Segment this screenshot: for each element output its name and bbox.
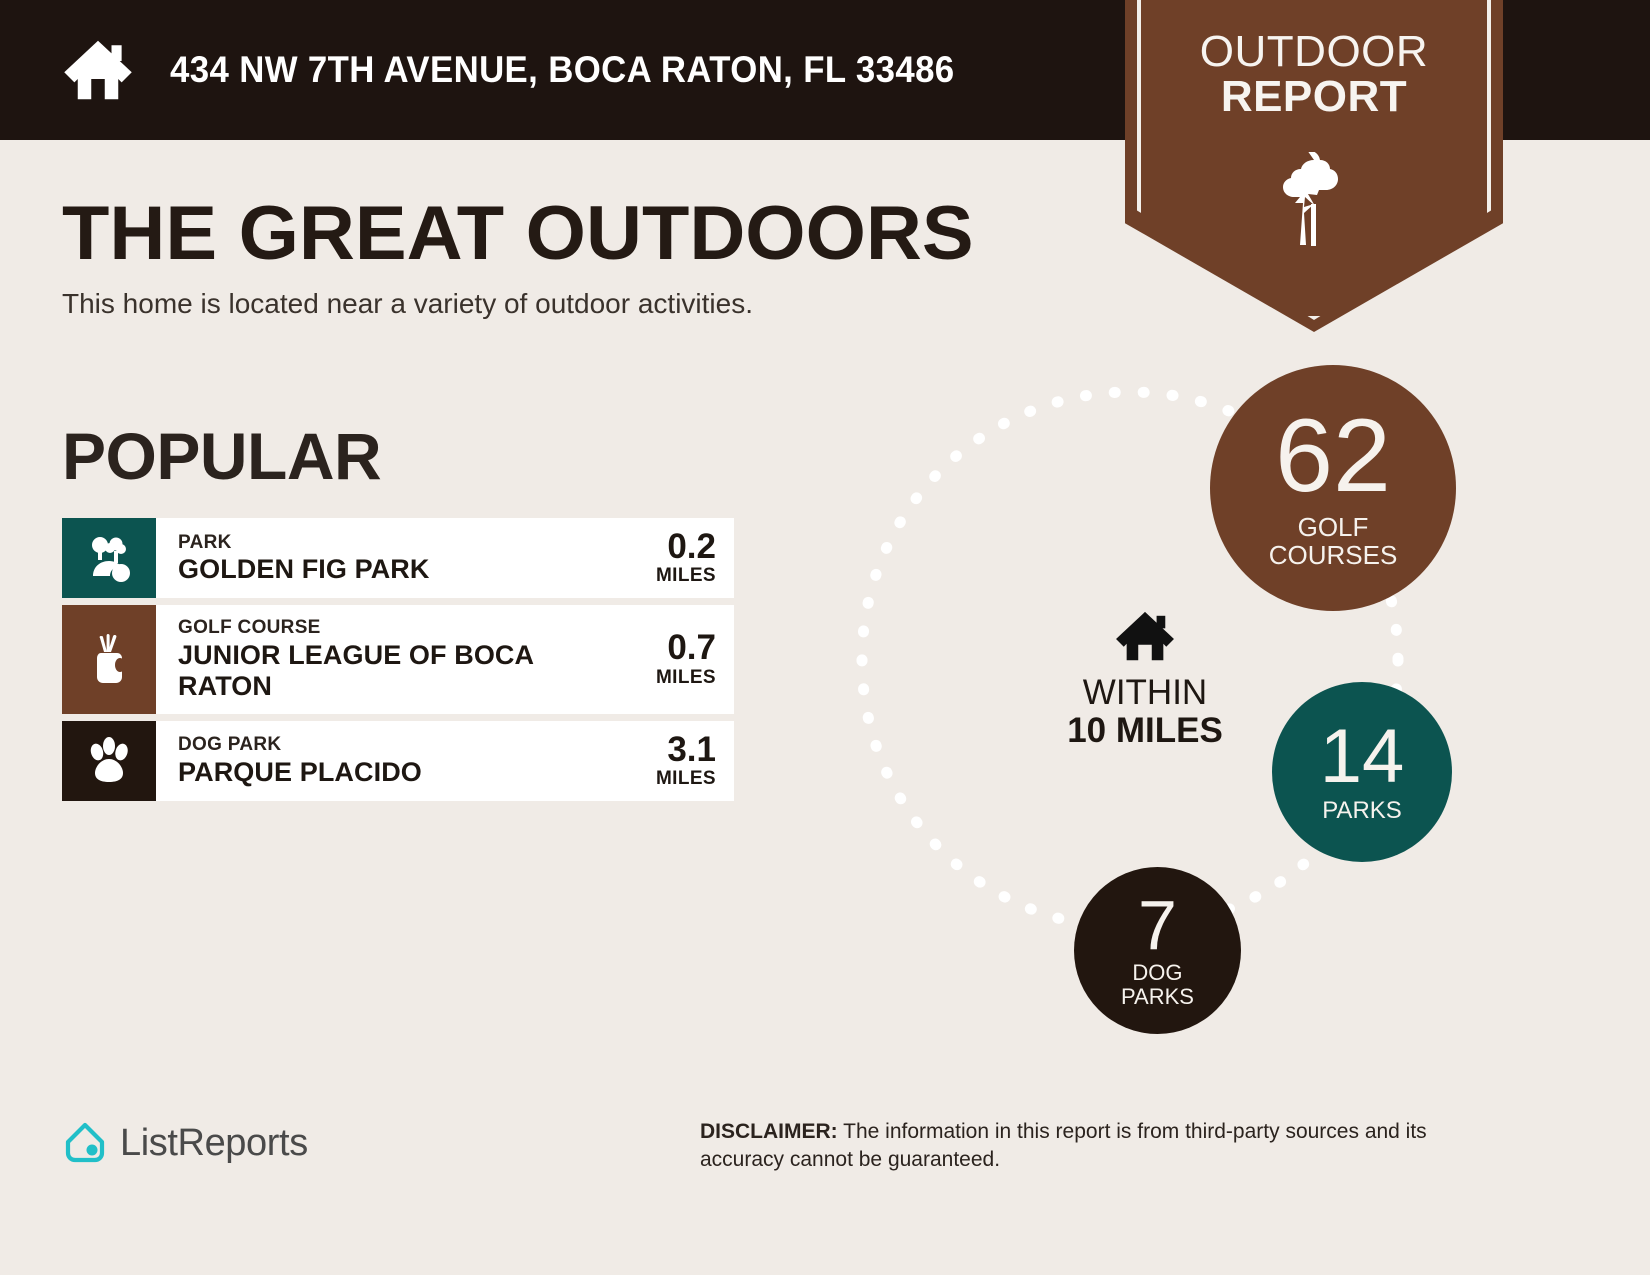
park-trees-icon <box>83 532 135 584</box>
list-item-name: PARQUE PLACIDO <box>178 757 616 788</box>
list-item[interactable]: DOG PARK PARQUE PLACIDO 3.1 MILES <box>62 721 734 801</box>
list-item-body: GOLF COURSE JUNIOR LEAGUE OF BOCA RATON <box>156 605 616 713</box>
center-line2: 10 MILES <box>1045 712 1245 750</box>
list-item-distance: 0.2 MILES <box>616 518 734 598</box>
page-subtitle: This home is located near a variety of o… <box>62 288 753 320</box>
list-item-distance-unit: MILES <box>656 667 716 689</box>
stat-value: 14 <box>1320 721 1405 794</box>
paw-print-icon <box>83 735 135 787</box>
section-title-popular: POPULAR <box>62 418 381 494</box>
list-item-distance-value: 0.2 <box>667 529 716 565</box>
listreports-logo[interactable]: ListReports <box>62 1120 308 1166</box>
badge-line2: REPORT <box>1125 75 1503 120</box>
list-item[interactable]: GOLF COURSE JUNIOR LEAGUE OF BOCA RATON … <box>62 605 734 713</box>
list-item-distance-unit: MILES <box>656 768 716 790</box>
list-item-body: DOG PARK PARQUE PLACIDO <box>156 721 616 801</box>
home-icon <box>1114 610 1176 666</box>
list-item-distance-value: 3.1 <box>667 732 716 768</box>
popular-list: PARK GOLDEN FIG PARK 0.2 MILES GOLF COUR… <box>62 518 734 808</box>
list-item-distance: 0.7 MILES <box>616 605 734 713</box>
stat-label-line1: GOLF <box>1269 513 1398 541</box>
stat-value: 62 <box>1275 407 1391 507</box>
list-item-icon-tile <box>62 721 156 801</box>
badge-line1: OUTDOOR <box>1125 30 1503 75</box>
golf-bag-icon <box>84 633 134 687</box>
stats-diagram: WITHIN 10 MILES 62 GOLF COURSES 14 PARKS… <box>840 355 1540 1055</box>
disclaimer: DISCLAIMER: The information in this repo… <box>700 1118 1510 1173</box>
home-icon <box>62 34 134 106</box>
property-address: 434 NW 7TH AVENUE, BOCA RATON, FL 33486 <box>170 49 955 91</box>
center-label: WITHIN 10 MILES <box>1045 610 1245 750</box>
disclaimer-label: DISCLAIMER: <box>700 1120 838 1143</box>
list-item-distance: 3.1 MILES <box>616 721 734 801</box>
list-item[interactable]: PARK GOLDEN FIG PARK 0.2 MILES <box>62 518 734 598</box>
stat-circle-dog-parks[interactable]: 7 DOG PARKS <box>1074 867 1241 1034</box>
outdoor-report-badge: OUTDOOR REPORT <box>1125 0 1503 332</box>
stat-label: DOG PARKS <box>1121 961 1194 1009</box>
list-item-icon-tile <box>62 518 156 598</box>
stat-label-line1: PARKS <box>1322 798 1402 824</box>
center-line1: WITHIN <box>1045 674 1245 712</box>
list-item-category: GOLF COURSE <box>178 616 616 640</box>
list-item-category: DOG PARK <box>178 733 616 757</box>
stat-circle-parks[interactable]: 14 PARKS <box>1272 682 1452 862</box>
list-item-icon-tile <box>62 605 156 713</box>
page-title: THE GREAT OUTDOORS <box>62 190 974 277</box>
stat-label-line2: PARKS <box>1121 985 1194 1009</box>
stat-label: GOLF COURSES <box>1269 513 1398 569</box>
list-item-distance-value: 0.7 <box>667 630 716 666</box>
list-item-body: PARK GOLDEN FIG PARK <box>156 518 616 598</box>
listreports-wordmark: ListReports <box>120 1122 308 1165</box>
list-item-category: PARK <box>178 531 616 555</box>
stat-label-line1: DOG <box>1121 961 1194 985</box>
stat-circle-golf-courses[interactable]: 62 GOLF COURSES <box>1210 365 1456 611</box>
list-item-name: GOLDEN FIG PARK <box>178 554 616 585</box>
stat-value: 7 <box>1138 892 1177 959</box>
badge-title: OUTDOOR REPORT <box>1125 30 1503 120</box>
tree-icon <box>1274 152 1354 252</box>
stat-label-line2: COURSES <box>1269 541 1398 569</box>
list-item-name: JUNIOR LEAGUE OF BOCA RATON <box>178 640 616 703</box>
listreports-house-icon <box>62 1120 108 1166</box>
list-item-distance-unit: MILES <box>656 565 716 587</box>
stat-label: PARKS <box>1322 798 1402 824</box>
